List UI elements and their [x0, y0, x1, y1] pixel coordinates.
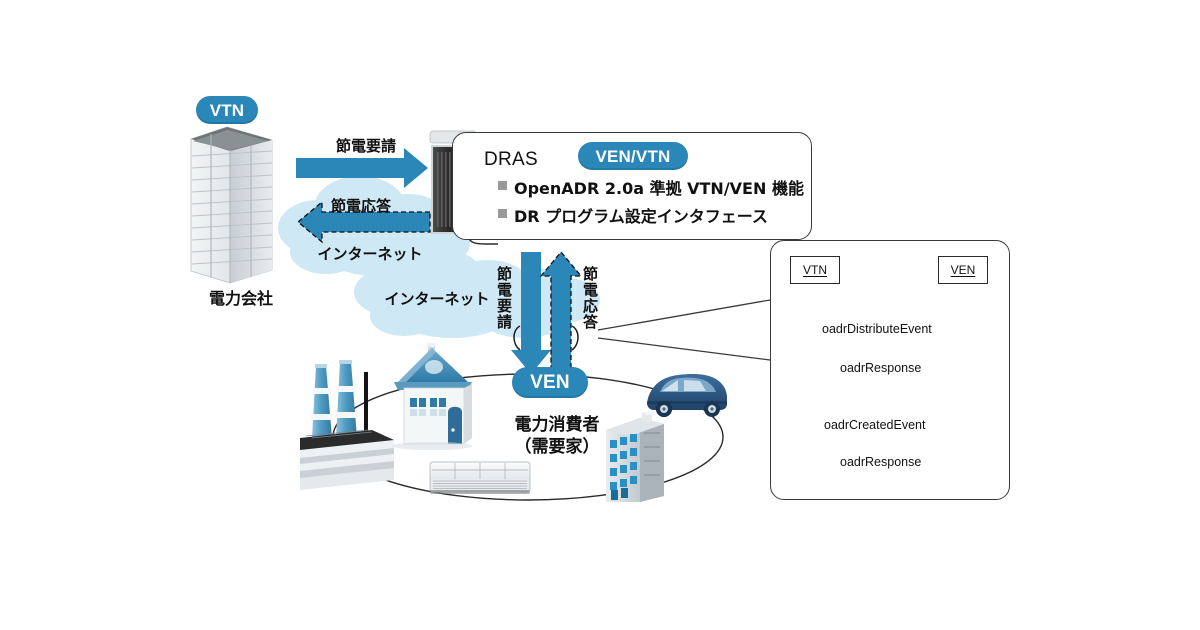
label-consumer: 電力消費者 （需要家） [492, 415, 622, 459]
badge-ven-vtn: VEN/VTN [578, 142, 688, 170]
label-consumer-line1: 電力消費者 [492, 415, 622, 437]
sequence-message-1: oadrDistributeEvent [822, 322, 932, 336]
skyscraper-icon [191, 127, 272, 283]
label-response-mid: 節電応答 [306, 195, 416, 216]
sequence-message-3: oadrCreatedEvent [824, 418, 925, 432]
bullet-square-icon [498, 209, 507, 218]
electric-car-icon [647, 374, 727, 417]
sequence-message-2: oadrResponse [840, 361, 921, 375]
label-power-company: 電力会社 [186, 285, 296, 309]
badge-ven: VEN [512, 367, 588, 398]
sequence-message-4: oadrResponse [840, 455, 921, 469]
dras-feature-1: OpenADR 2.0a 準拠 VTN/VEN 機能 [498, 175, 804, 199]
sequence-actor-ven: VEN [938, 256, 988, 284]
label-internet-lower: インターネット [372, 288, 502, 309]
air-conditioner-icon [430, 462, 530, 494]
bullet-square-icon [498, 181, 507, 190]
dras-feature-2: DR プログラム設定インタフェース [498, 203, 768, 227]
sequence-actor-vtn-label: VTN [803, 263, 827, 277]
label-request-vertical: 節電要請 [494, 266, 515, 350]
label-internet-upper: インターネット [300, 243, 440, 264]
sequence-actor-ven-label: VEN [951, 263, 976, 277]
badge-vtn: VTN [196, 96, 258, 124]
sequence-actor-vtn: VTN [790, 256, 840, 284]
label-response-vertical: 節電応答 [580, 266, 601, 350]
diagram-canvas: VTN 電力会社 節電要請 節電応答 インターネット インターネット 節電要請 … [0, 0, 1200, 630]
dras-title: DRAS [484, 149, 538, 171]
factory-icon [300, 360, 394, 490]
callout-lines [598, 300, 770, 360]
label-request-top: 節電要請 [306, 135, 426, 156]
dras-feature-1-label: OpenADR 2.0a 準拠 VTN/VEN 機能 [514, 175, 804, 199]
house-icon [392, 343, 472, 450]
label-consumer-line2: （需要家） [492, 437, 622, 459]
dras-feature-2-label: DR プログラム設定インタフェース [514, 203, 768, 227]
